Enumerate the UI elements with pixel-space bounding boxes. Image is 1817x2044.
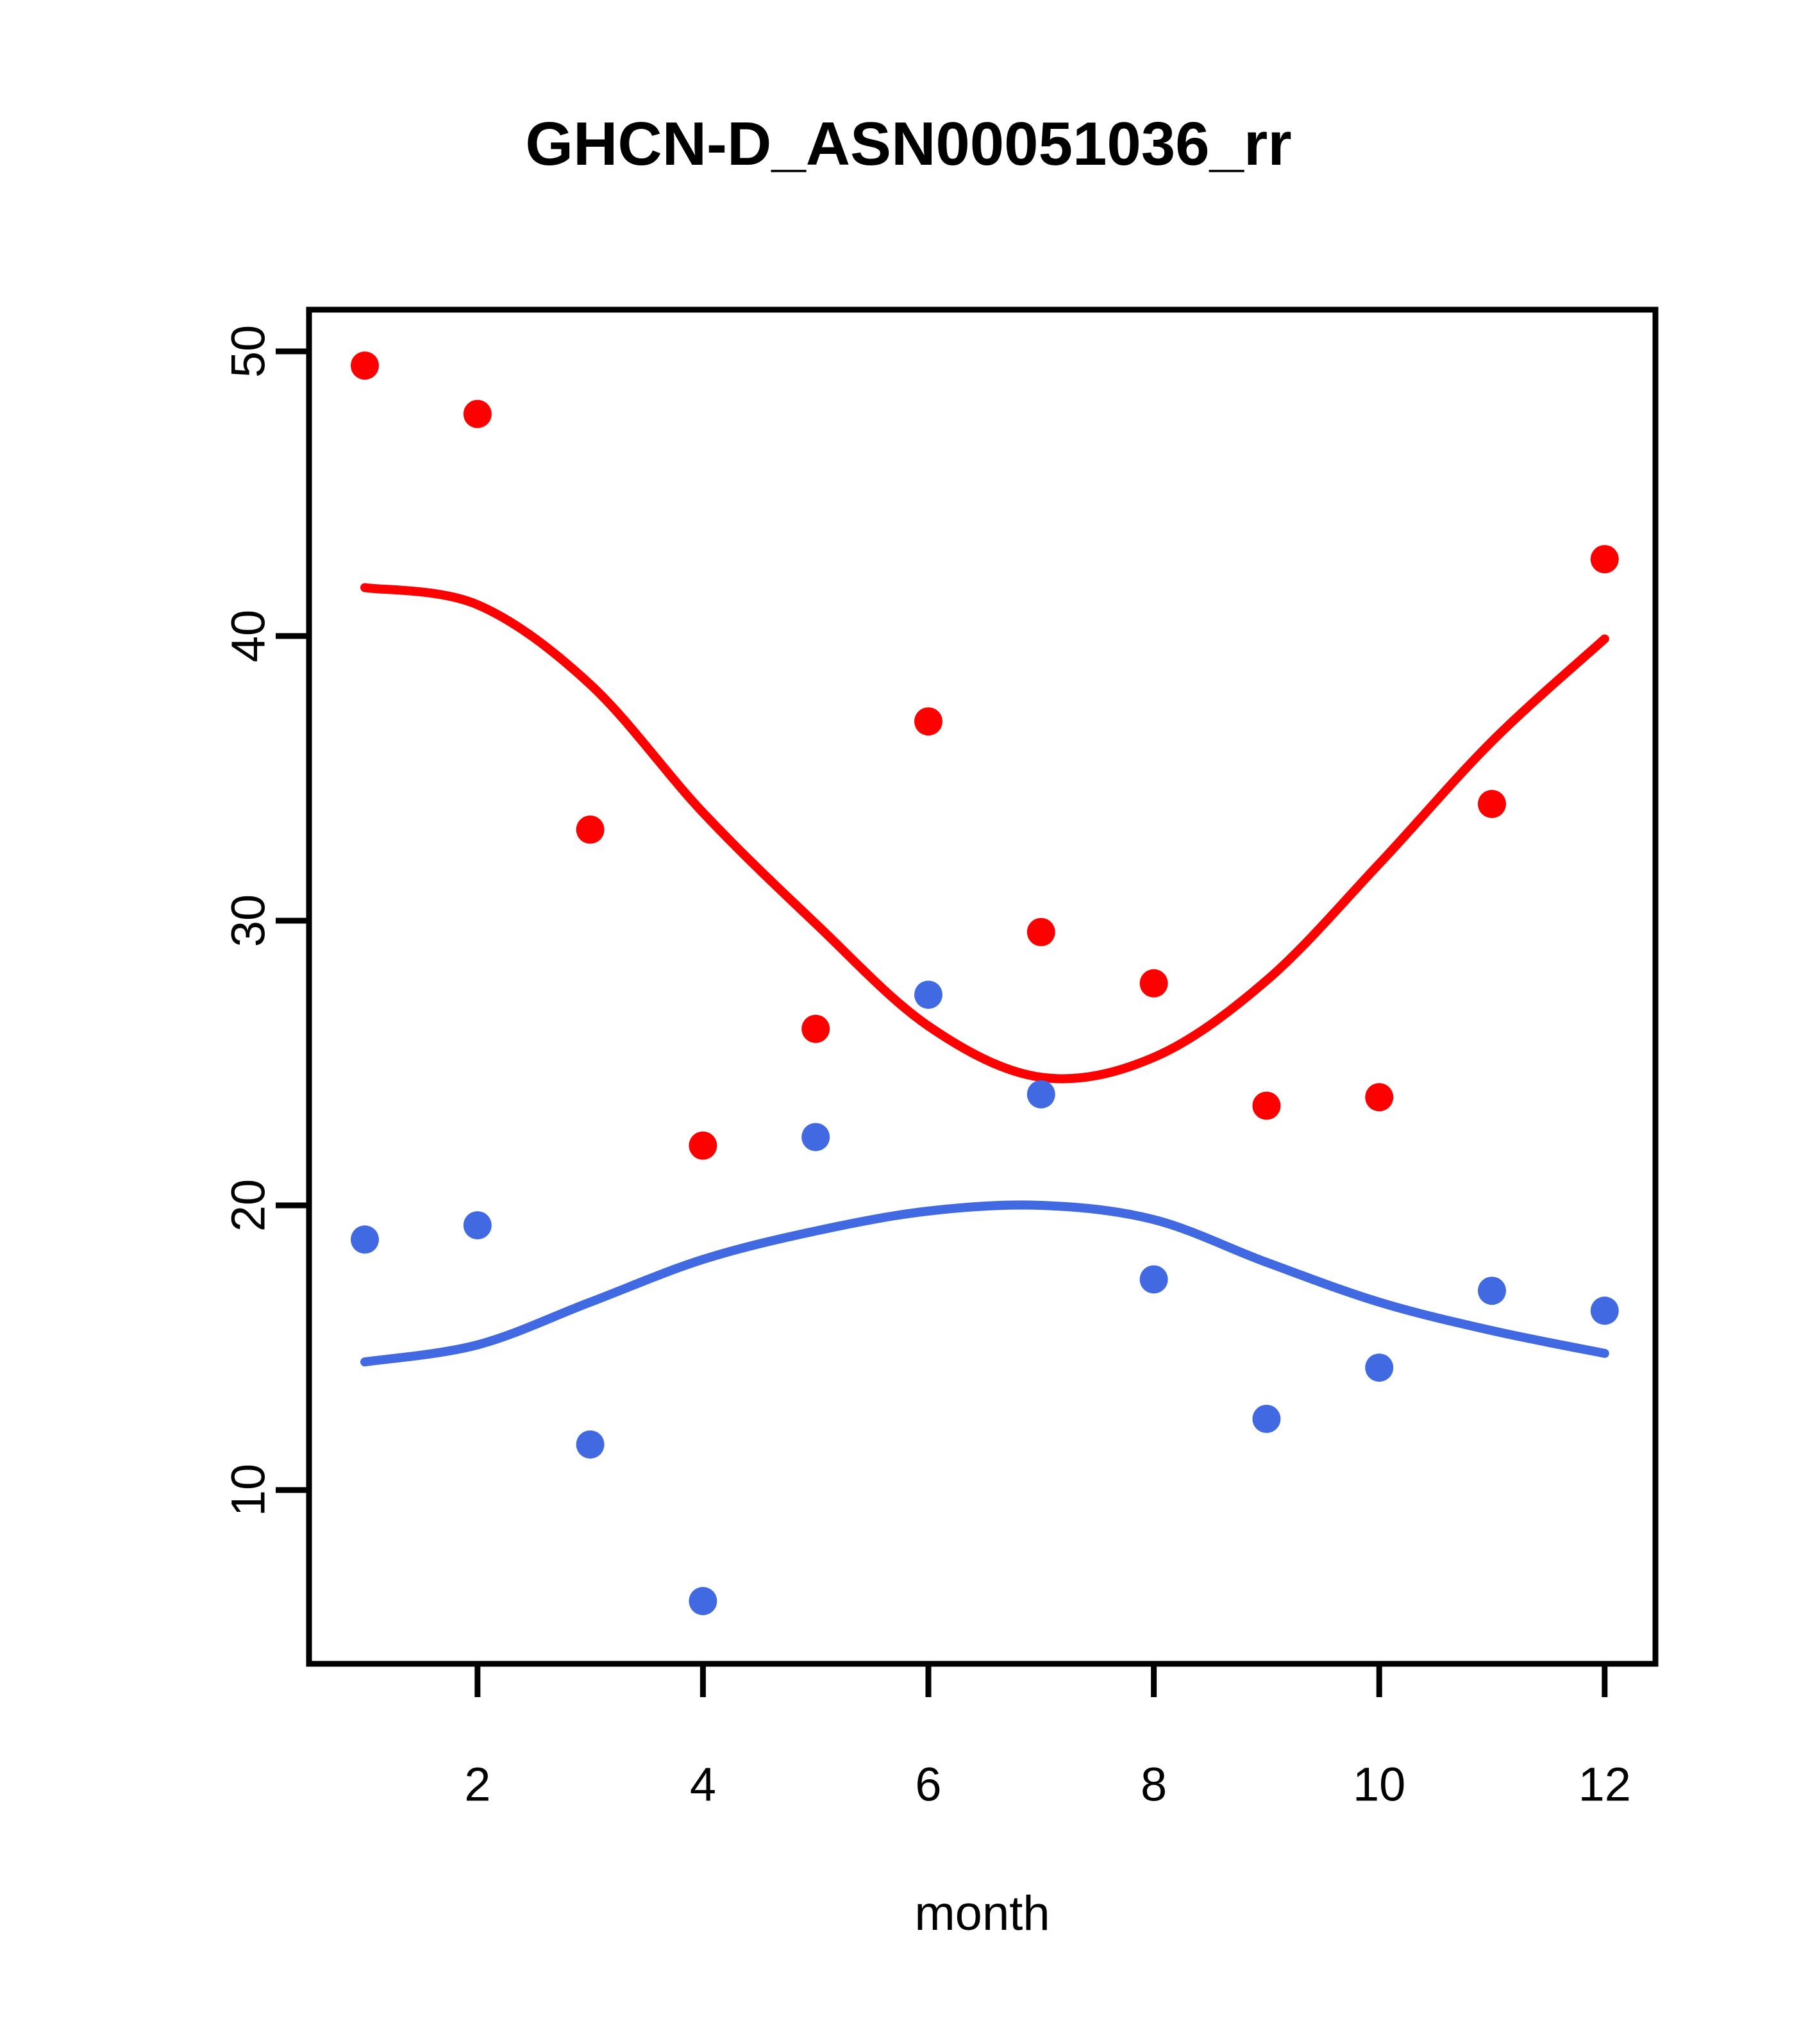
data-point — [351, 1225, 379, 1253]
y-tick-label: 10 — [222, 1464, 275, 1516]
data-point — [1027, 1080, 1055, 1109]
blue-trend-line — [365, 1205, 1605, 1362]
data-point — [351, 351, 379, 380]
x-axis-title: month — [914, 1886, 1050, 1941]
data-point — [1478, 790, 1506, 818]
red-scatter-points — [351, 351, 1619, 1160]
plot-frame — [309, 310, 1655, 1664]
data-point — [914, 980, 942, 1009]
x-tick-label: 10 — [1353, 1758, 1405, 1811]
y-tick-label: 50 — [222, 325, 275, 378]
y-tick-label: 30 — [222, 894, 275, 947]
data-point — [464, 1211, 492, 1239]
data-point — [1365, 1083, 1393, 1111]
data-point — [1591, 545, 1619, 573]
data-point — [1140, 1265, 1168, 1293]
data-point — [1591, 1296, 1619, 1325]
x-tick-label: 4 — [690, 1758, 716, 1811]
x-axis-tick-labels: 24681012 — [464, 1758, 1631, 1811]
data-point — [576, 1430, 605, 1459]
chart-canvas: GHCN-D_ASN00051036_rr 1020304050 2468101… — [0, 0, 1817, 2044]
data-point — [1140, 969, 1168, 998]
red-trend-line — [365, 588, 1605, 1079]
data-point — [1478, 1277, 1506, 1305]
data-point — [689, 1587, 717, 1615]
data-point — [801, 1015, 830, 1043]
data-point — [1252, 1405, 1280, 1433]
y-tick-label: 40 — [222, 610, 275, 662]
blue-scatter-points — [351, 980, 1619, 1615]
x-tick-label: 2 — [464, 1758, 490, 1811]
x-tick-label: 8 — [1141, 1758, 1167, 1811]
data-point — [464, 400, 492, 428]
blue-trend — [365, 1205, 1605, 1362]
x-tick-label: 6 — [915, 1758, 941, 1811]
x-axis-ticks — [478, 1664, 1605, 1697]
data-point — [1252, 1092, 1280, 1120]
data-point — [914, 707, 942, 735]
plot-area: 1020304050 24681012 month — [0, 0, 1817, 2044]
y-axis-tick-labels: 1020304050 — [222, 325, 275, 1516]
x-tick-label: 12 — [1578, 1758, 1631, 1811]
data-point — [1027, 918, 1055, 946]
data-point — [801, 1123, 830, 1151]
data-point — [576, 816, 605, 844]
y-axis-ticks — [276, 351, 309, 1490]
data-point — [689, 1132, 717, 1160]
y-tick-label: 20 — [222, 1179, 275, 1232]
data-point — [1365, 1353, 1393, 1382]
red-trend — [365, 588, 1605, 1079]
